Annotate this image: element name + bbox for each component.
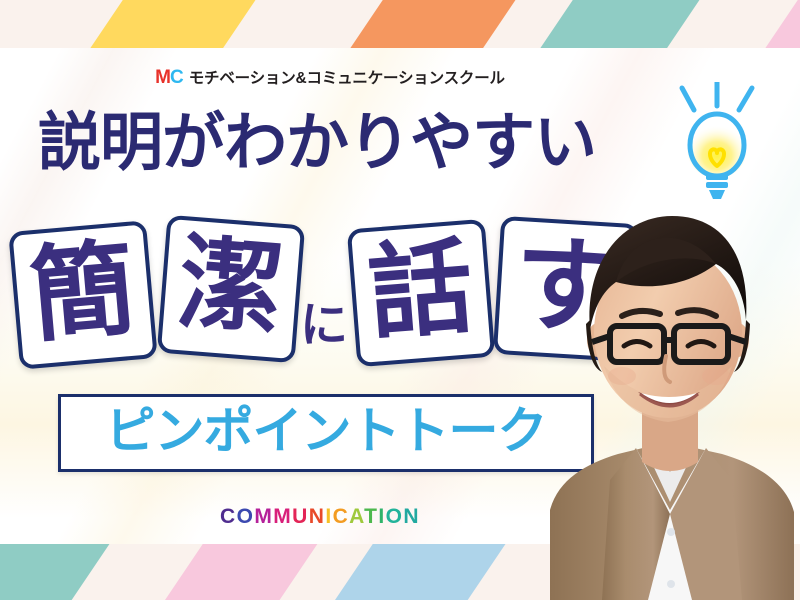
kanji-card-2: 潔 [157,215,305,363]
communication-letter-10: I [378,505,385,528]
communication-letter-8: A [349,505,364,528]
kanji-card-1-char: 簡 [26,237,139,350]
subtitle-bar-text: ピンポイントトーク [106,406,547,456]
communication-letter-0: C [220,505,237,528]
kanji-card-3-char: 話 [365,235,477,347]
communication-letter-1: O [237,505,255,528]
communication-letter-3: M [273,505,292,528]
page-title: 説明がわかりやすい [38,112,658,175]
communication-letter-5: N [309,505,326,528]
logo-letter-m: M [155,67,170,88]
kanji-card-2-char: 潔 [175,231,287,343]
communication-letter-9: T [364,505,378,528]
communication-letter-12: N [403,505,420,528]
communication-letter-2: M [254,505,273,528]
kanji-card-3: 話 [347,219,495,367]
stripe-1 [25,0,262,48]
subtitle-bar: ピンポイントトーク [58,394,594,472]
stripe-1 [0,544,117,600]
kanji-card-1: 簡 [8,220,158,370]
stripe-2 [105,544,329,600]
brand-logo-line: MCモチベーション&コミュニケーションスクール [0,66,660,89]
stripe-4 [700,0,800,48]
presenter-photo [540,180,800,600]
communication-letter-4: U [292,505,309,528]
brand-name-text: モチベーション&コミュニケーションスクール [189,70,505,87]
communication-letter-11: O [386,505,404,528]
promo-banner: MCモチベーション&コミュニケーションスクール 説明がわかりやすい [0,0,800,600]
particle-ni: に [300,302,348,350]
stripe-2 [285,0,522,48]
logo-letter-c: C [170,67,184,88]
communication-letter-6: I [325,505,332,528]
communication-letter-7: C [333,505,350,528]
top-stripe-banner [0,0,800,48]
